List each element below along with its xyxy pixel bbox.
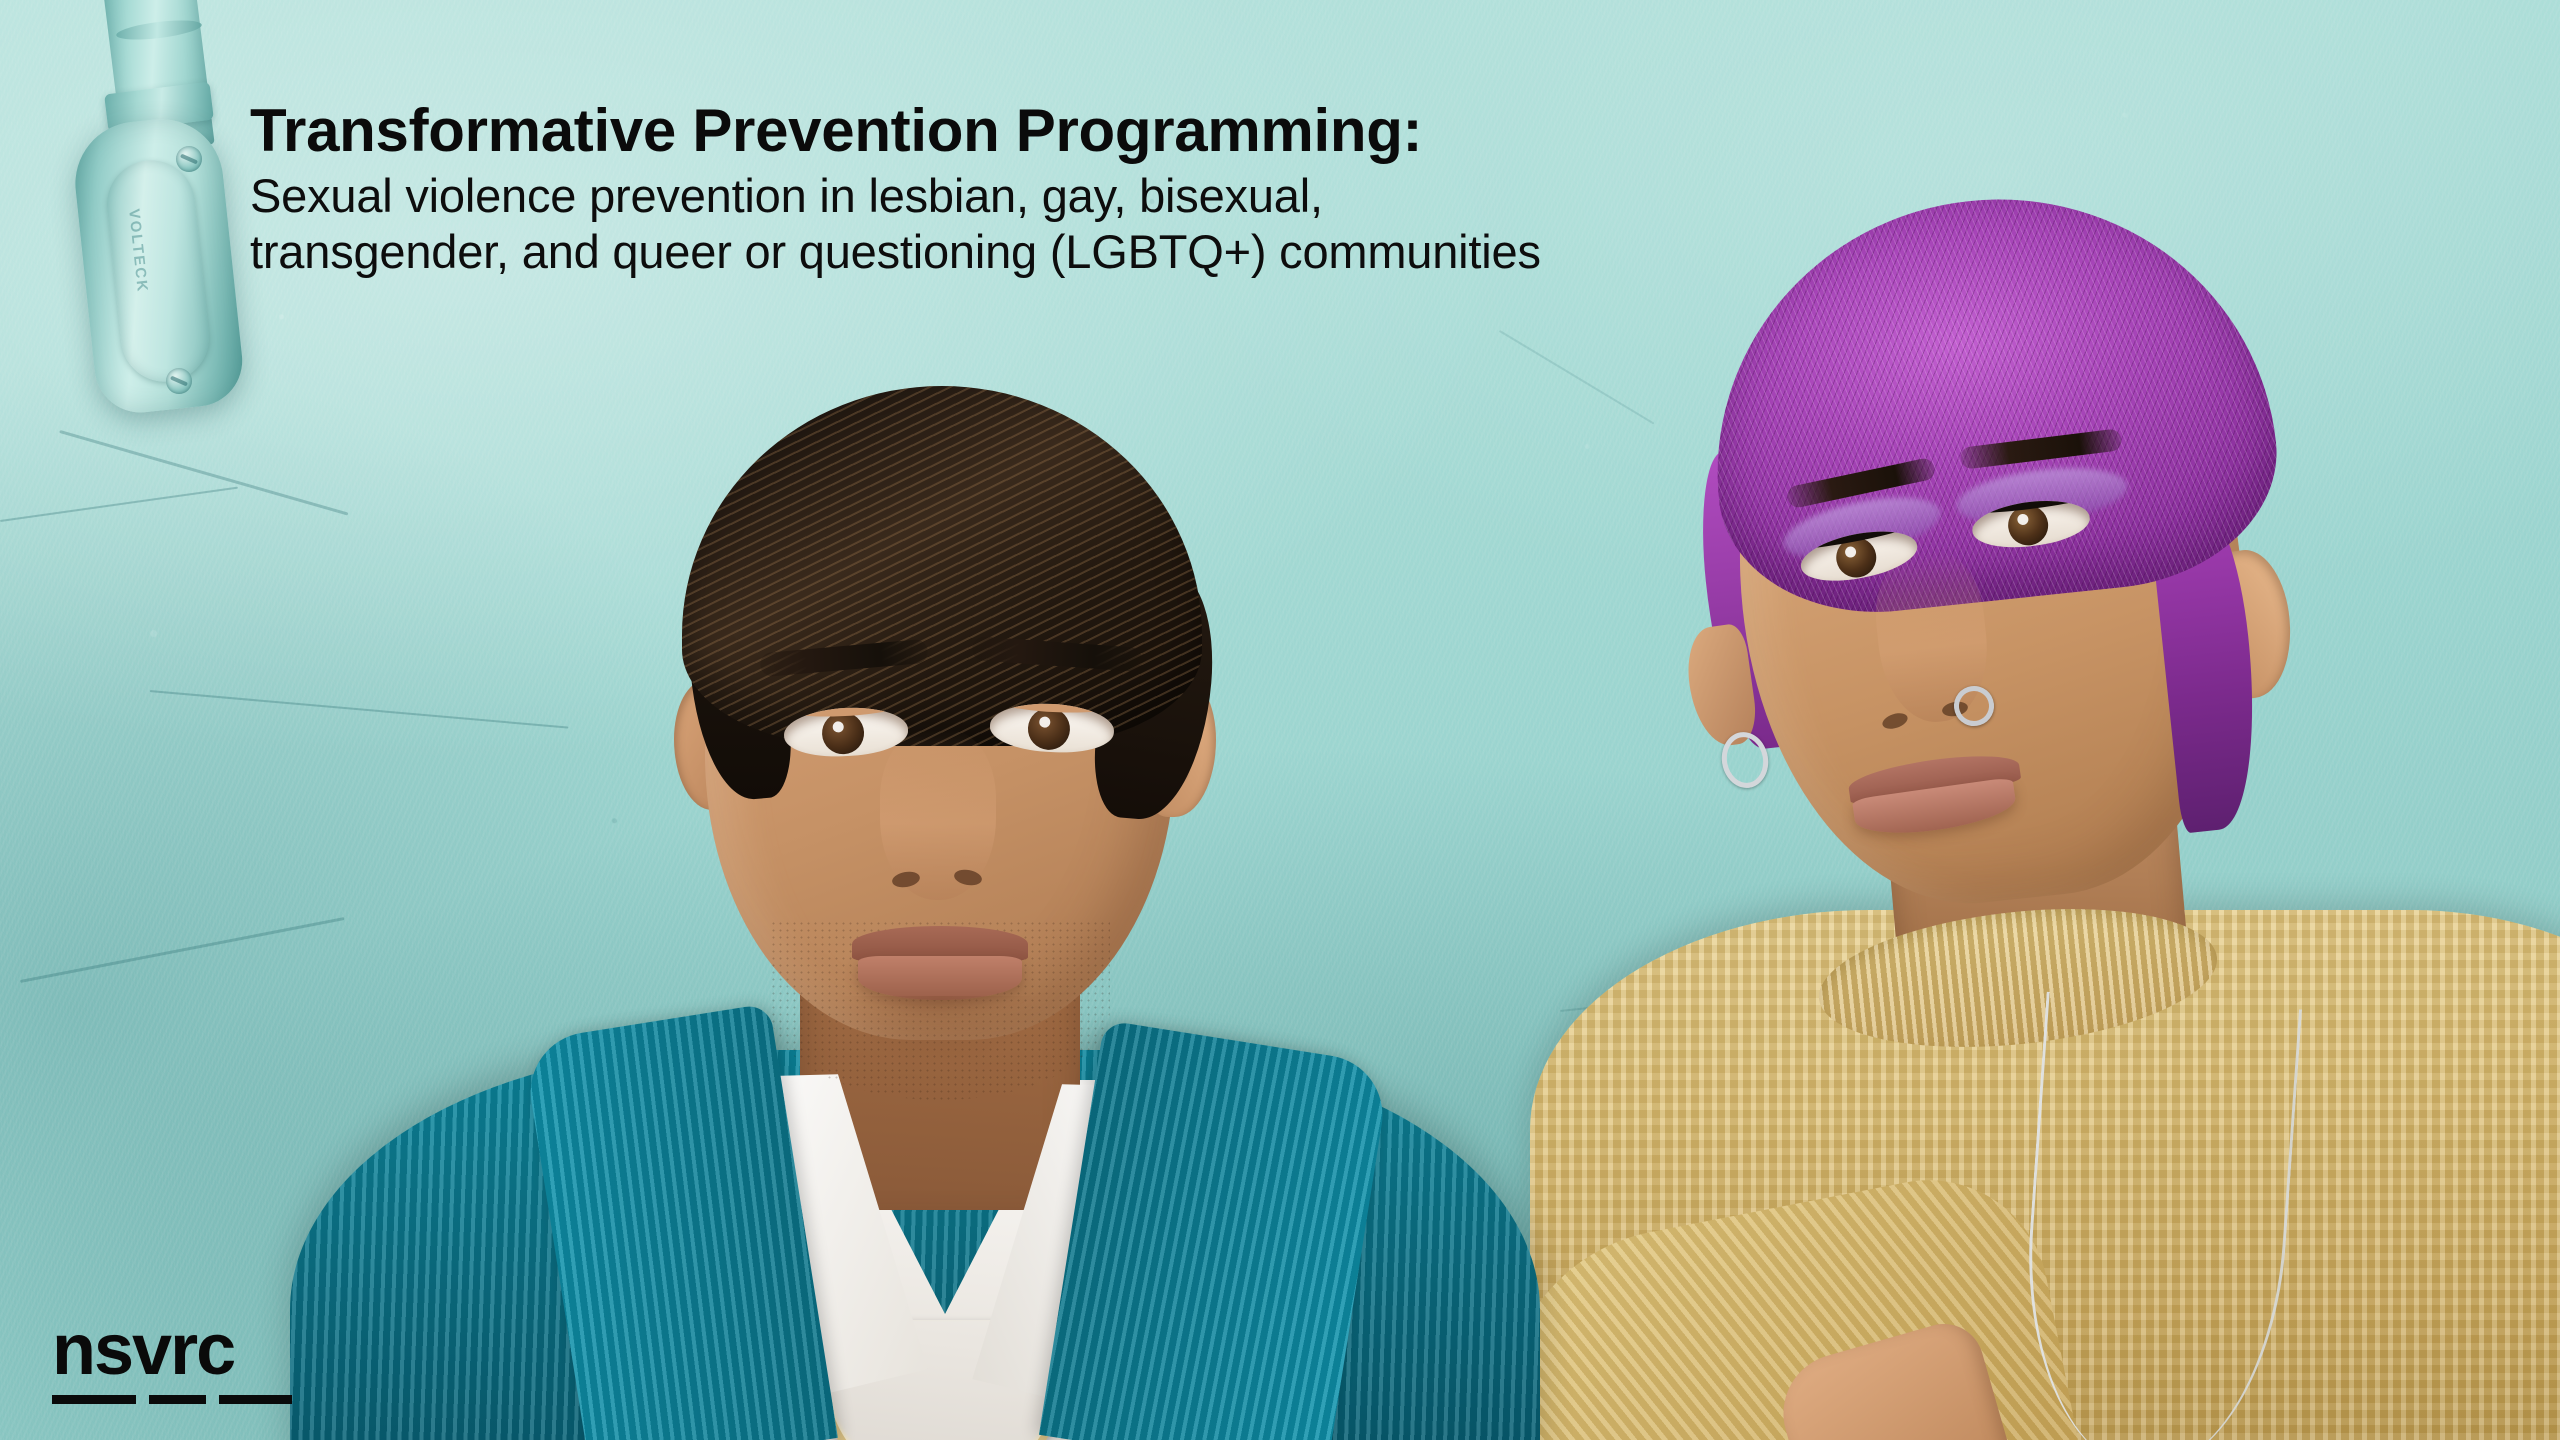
person-right: Choirboy xyxy=(1560,120,2560,1440)
subtitle-line-1: Sexual violence prevention in lesbian, g… xyxy=(250,168,1810,224)
nsvrc-logo-rules xyxy=(52,1395,292,1404)
iris-right xyxy=(1027,707,1071,751)
logo-rule-2 xyxy=(149,1395,206,1404)
headline-text-block: Transformative Prevention Programming: S… xyxy=(250,98,1810,281)
lower-lip xyxy=(858,956,1022,1000)
logo-rule-1 xyxy=(52,1395,136,1404)
hair-texture xyxy=(682,386,1202,746)
dark-hair xyxy=(682,386,1202,746)
nsvrc-wordmark: nsvrc xyxy=(52,1318,292,1383)
page-title: Transformative Prevention Programming: xyxy=(250,98,1810,164)
banner-image: VOLTECK Choirboy xyxy=(0,0,2560,1440)
nsvrc-logo: nsvrc xyxy=(52,1318,292,1404)
subtitle-line-2: transgender, and queer or questioning (L… xyxy=(250,224,1810,280)
chin-shadow xyxy=(840,996,1040,1066)
person-left xyxy=(300,320,1500,1440)
logo-rule-3 xyxy=(219,1395,292,1404)
page-subtitle: Sexual violence prevention in lesbian, g… xyxy=(250,168,1810,281)
iris-left xyxy=(821,711,865,755)
